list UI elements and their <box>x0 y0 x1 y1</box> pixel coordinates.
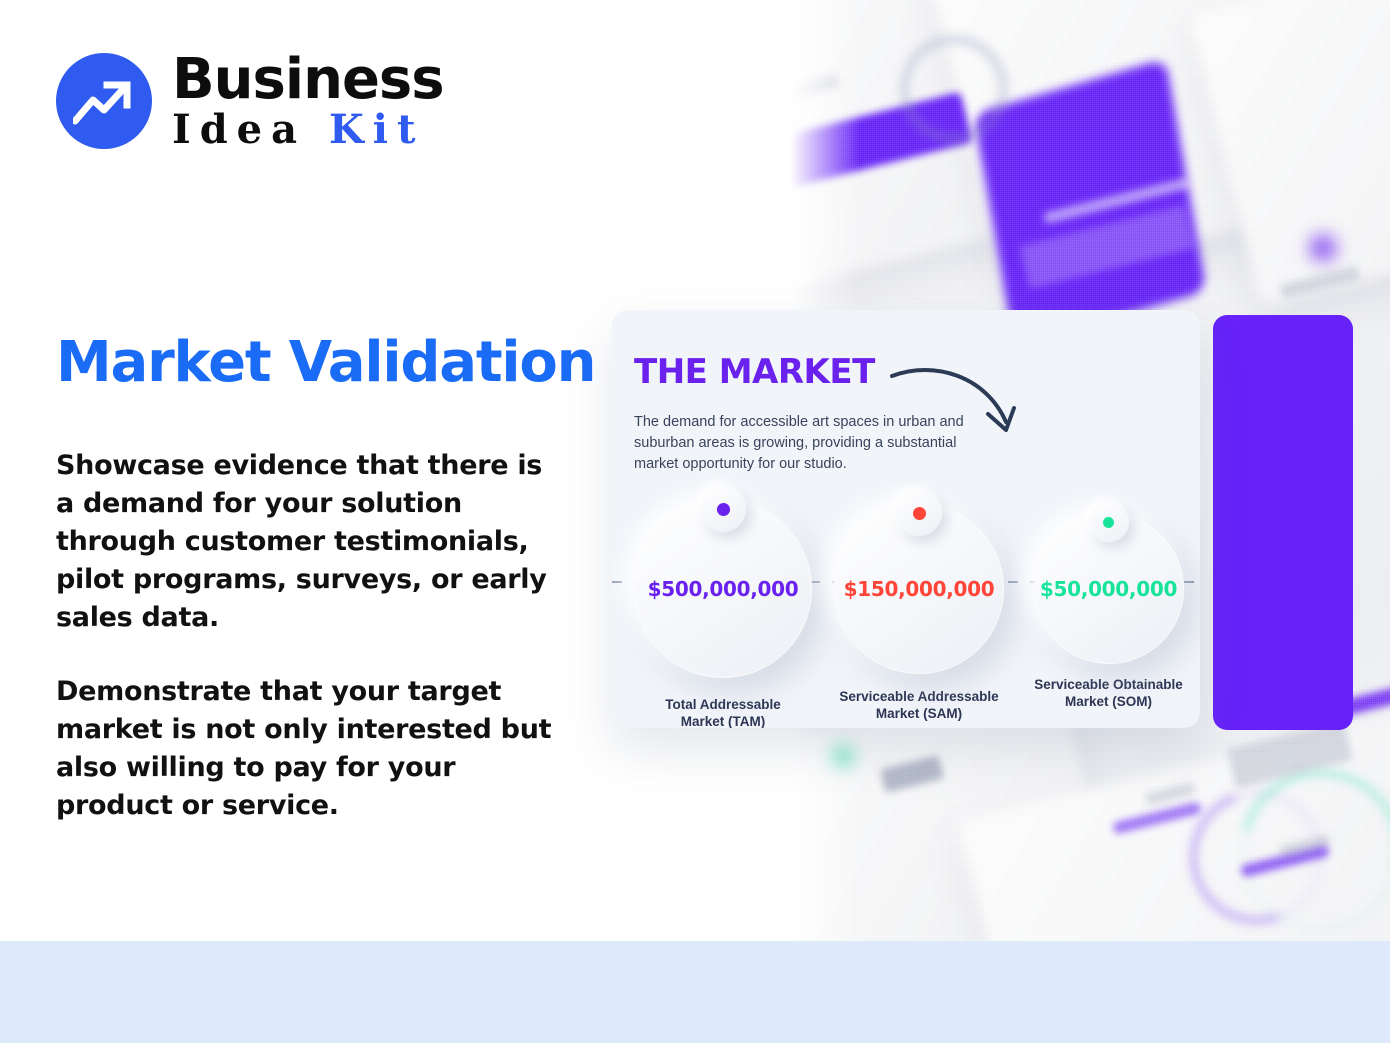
metric-tam-value: $500,000,000 <box>648 577 799 601</box>
metric-som-label: Serviceable Obtainable Market (SOM) <box>1016 676 1200 710</box>
metric-sam: $150,000,000 Serviceable Addressable Mar… <box>824 500 1014 722</box>
metric-sam-disc: $150,000,000 <box>834 504 1004 674</box>
metric-sam-label: Serviceable Addressable Market (SAM) <box>824 688 1014 722</box>
metric-som-label-line1: Serviceable Obtainable <box>1016 676 1200 693</box>
metric-tam-label-line2: Market (TAM) <box>628 713 818 728</box>
metric-tam-disc: $500,000,000 <box>634 500 812 678</box>
metric-som: $50,000,000 Serviceable Obtainable Marke… <box>1016 500 1200 710</box>
metric-tam-bubble <box>700 486 746 532</box>
footer-band <box>0 941 1390 1043</box>
description-paragraph-2: Demonstrate that your target market is n… <box>56 673 556 825</box>
metric-som-bubble <box>1089 502 1129 542</box>
brand-name-idea: Idea <box>172 106 329 153</box>
metric-tam-dot <box>717 503 730 516</box>
page-title: Market Validation <box>56 330 595 395</box>
metric-som-value: $50,000,000 <box>1040 577 1177 601</box>
metric-sam-value: $150,000,000 <box>844 577 995 601</box>
metric-som-disc: $50,000,000 <box>1034 514 1184 664</box>
metric-tam: $500,000,000 Total Addressable Market (T… <box>628 500 818 728</box>
brand-name-kit: Kit <box>329 106 424 153</box>
metric-sam-label-line2: Market (SAM) <box>824 705 1014 722</box>
curved-arrow-icon <box>888 358 1028 448</box>
purple-accent-panel <box>1213 315 1353 730</box>
market-metrics-row: $500,000,000 Total Addressable Market (T… <box>612 500 1200 728</box>
brand-name-secondary: Idea Kit <box>172 110 444 150</box>
metric-tam-label-line1: Total Addressable <box>628 696 818 713</box>
metric-som-label-line2: Market (SOM) <box>1016 693 1200 710</box>
metric-sam-dot <box>913 507 926 520</box>
market-card: THE MARKET The demand for accessible art… <box>612 310 1200 728</box>
brand-name-primary: Business <box>172 52 444 108</box>
metric-tam-label: Total Addressable Market (TAM) <box>628 696 818 728</box>
description-paragraph-1: Showcase evidence that there is a demand… <box>56 447 556 637</box>
market-card-title: THE MARKET <box>634 352 875 392</box>
trend-up-arrow-icon <box>56 53 152 149</box>
metric-sam-bubble <box>896 490 942 536</box>
metric-som-dot <box>1103 517 1114 528</box>
metric-sam-label-line1: Serviceable Addressable <box>824 688 1014 705</box>
brand-logo: Business Idea Kit <box>56 52 444 150</box>
